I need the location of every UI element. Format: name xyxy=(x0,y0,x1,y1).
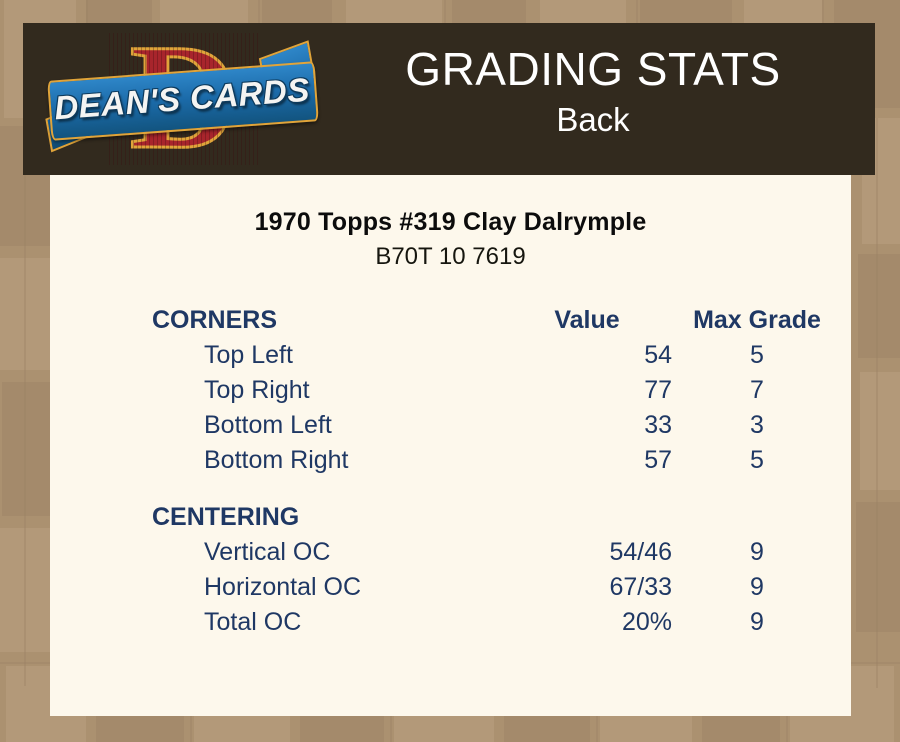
stat-max-grade: 5 xyxy=(672,341,842,370)
page-title: GRADING STATS xyxy=(323,41,863,97)
stat-value: 33 xyxy=(502,411,672,440)
section-corners: CORNERS Value Max Grade Top Left 54 5 To… xyxy=(152,306,842,481)
section-title-centering: CENTERING xyxy=(152,503,502,532)
page-subtitle: Back xyxy=(323,99,863,141)
column-header-max-grade: Max Grade xyxy=(672,306,842,335)
stat-max-grade: 5 xyxy=(672,446,842,475)
table-row: Total OC 20% 9 xyxy=(152,608,842,643)
stat-value: 54 xyxy=(502,341,672,370)
stat-max-grade: 7 xyxy=(672,376,842,405)
stat-value: 67/33 xyxy=(502,573,672,602)
header-titles: GRADING STATS Back xyxy=(323,41,863,141)
stat-label: Top Right xyxy=(152,376,502,405)
content-panel: 1970 Topps #319 Clay Dalrymple B70T 10 7… xyxy=(50,175,851,716)
stat-label: Bottom Left xyxy=(152,411,502,440)
stat-value: 77 xyxy=(502,376,672,405)
stat-label: Bottom Right xyxy=(152,446,502,475)
section-header-row-centering: CENTERING xyxy=(152,503,842,538)
stat-max-grade: 9 xyxy=(672,573,842,602)
stat-label: Total OC xyxy=(152,608,502,637)
stat-max-grade: 9 xyxy=(672,538,842,567)
stat-value: 20% xyxy=(502,608,672,637)
grading-stats-table: CORNERS Value Max Grade Top Left 54 5 To… xyxy=(152,306,842,643)
card-title: 1970 Topps #319 Clay Dalrymple xyxy=(50,208,851,237)
stat-max-grade: 9 xyxy=(672,608,842,637)
table-row: Top Right 77 7 xyxy=(152,376,842,411)
table-row: Top Left 54 5 xyxy=(152,341,842,376)
column-header-value: Value xyxy=(502,306,672,335)
section-centering: CENTERING Vertical OC 54/46 9 Horizontal… xyxy=(152,503,842,643)
table-row: Horizontal OC 67/33 9 xyxy=(152,573,842,608)
card-subtitle: B70T 10 7619 xyxy=(50,243,851,271)
stat-label: Horizontal OC xyxy=(152,573,502,602)
header-bar: D DEAN'S CARDS GRADING STATS Back xyxy=(23,23,875,175)
table-row: Bottom Left 33 3 xyxy=(152,411,842,446)
section-title-corners: CORNERS xyxy=(152,306,502,335)
stat-label: Top Left xyxy=(152,341,502,370)
stat-value: 57 xyxy=(502,446,672,475)
table-row: Vertical OC 54/46 9 xyxy=(152,538,842,573)
stat-value: 54/46 xyxy=(502,538,672,567)
stat-max-grade: 3 xyxy=(672,411,842,440)
table-row: Bottom Right 57 5 xyxy=(152,446,842,481)
deans-cards-logo[interactable]: D DEAN'S CARDS xyxy=(47,31,315,167)
section-header-row-corners: CORNERS Value Max Grade xyxy=(152,306,842,341)
stat-label: Vertical OC xyxy=(152,538,502,567)
